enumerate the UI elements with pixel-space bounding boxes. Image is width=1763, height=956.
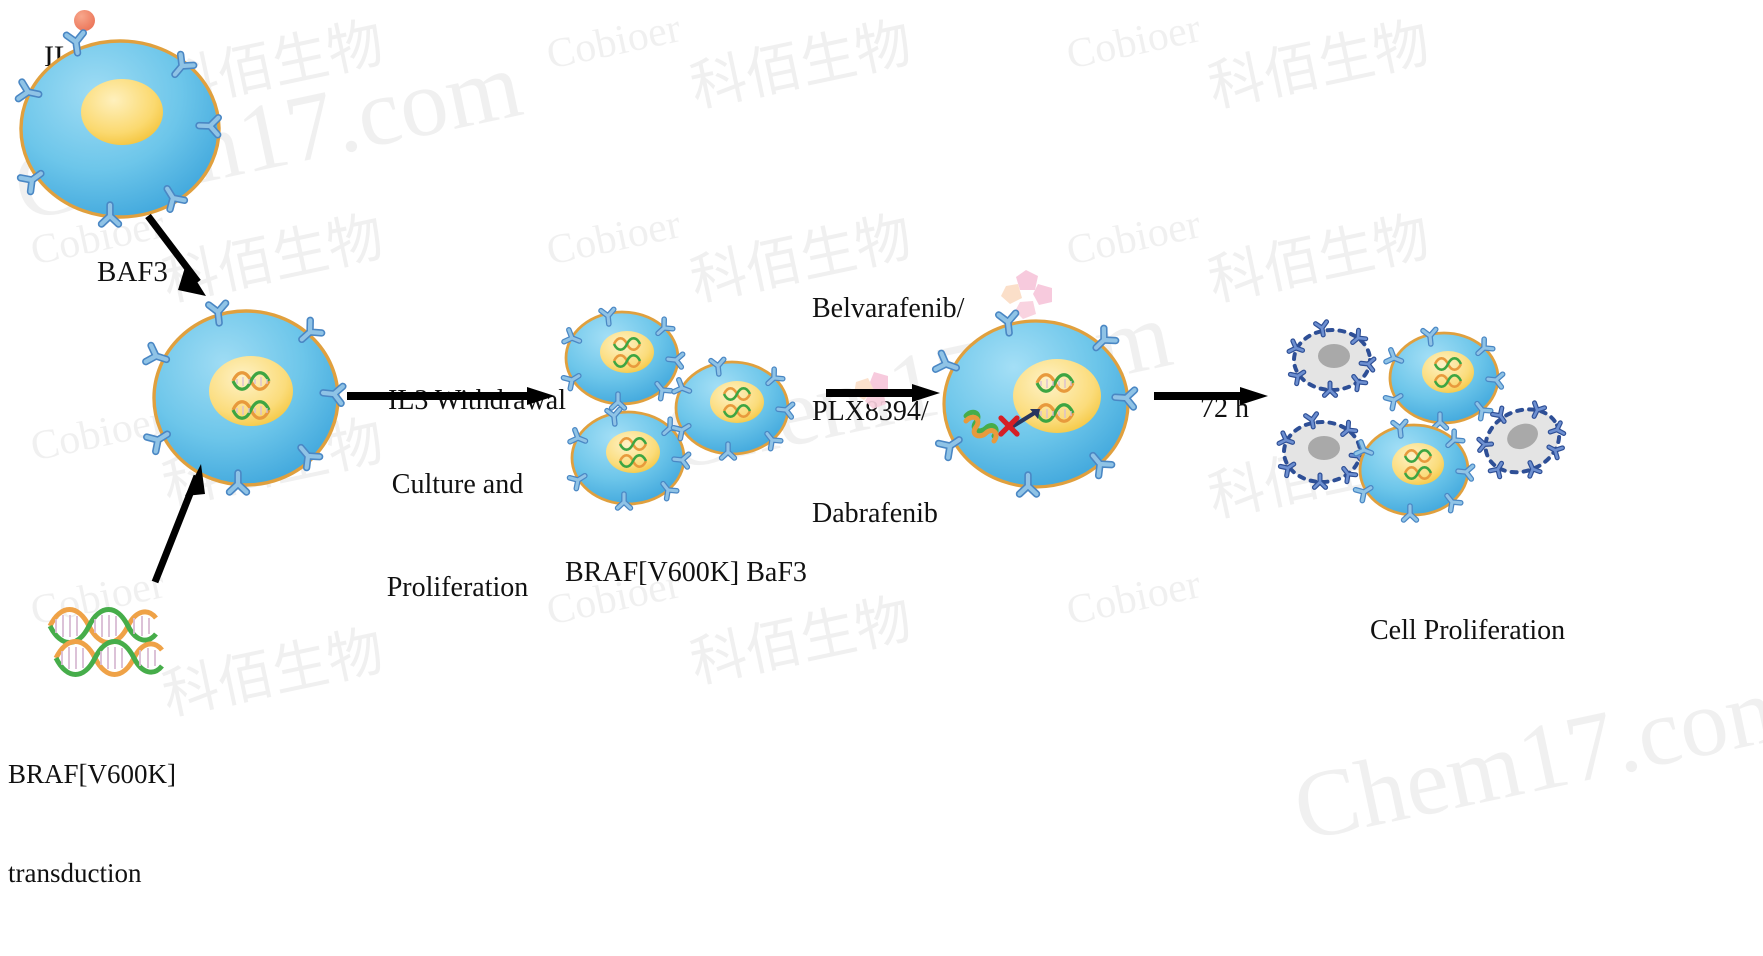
- watermark-11: 科佰生物: [1200, 0, 1436, 123]
- cluster-cell-1: [564, 309, 683, 408]
- watermark-1: Cobioer: [1062, 4, 1204, 79]
- label-cell-proliferation-text: Cell Proliferation: [1370, 615, 1565, 646]
- dead-cell-1: [1289, 322, 1374, 396]
- label-braf-baf3: BRAF[V600K] BaF3: [537, 522, 807, 624]
- watermark-4: Cobioer: [1062, 200, 1204, 275]
- live-cell-2: [1356, 421, 1473, 520]
- watermark-3: Cobioer: [542, 200, 684, 275]
- label-culture-line2: Proliferation: [370, 571, 545, 605]
- label-culture-line1: Culture and: [370, 468, 545, 502]
- dead-cell-2: [1279, 414, 1364, 488]
- label-transduction-line2: transduction: [8, 857, 176, 890]
- cluster-cell-2: [570, 409, 689, 508]
- watermark-10: 科佰生物: [682, 0, 918, 123]
- label-transduction-line1: BRAF[V600K]: [8, 758, 176, 791]
- dna-braf-v600k-construct: [50, 608, 175, 683]
- arrow-dna-to-braf: [145, 460, 235, 590]
- label-transduction: BRAF[V600K] transduction: [8, 692, 176, 956]
- watermark-18: 科佰生物: [154, 606, 390, 732]
- outcome-cell-cluster: [1276, 322, 1556, 522]
- watermark-7: Cobioer: [1062, 560, 1204, 635]
- label-braf-baf3-text: BRAF[V600K] BaF3: [565, 557, 807, 588]
- cell-baf3: [10, 26, 240, 231]
- arrow-baf3-to-braf: [140, 210, 230, 310]
- cluster-cell-3: [674, 359, 793, 458]
- label-72h: 72 h: [1172, 358, 1249, 460]
- watermark-14: 科佰生物: [1200, 192, 1436, 318]
- live-cell-1: [1386, 329, 1503, 428]
- label-cell-proliferation: Cell Proliferation: [1342, 580, 1565, 682]
- watermark-0: Cobioer: [542, 4, 684, 79]
- label-culture-proliferation: Culture and Proliferation: [370, 400, 545, 673]
- cell-cluster-braf-baf3: [552, 296, 802, 518]
- cell-drug-treated: [932, 306, 1142, 506]
- arrow-drug-treatment: [824, 382, 944, 404]
- arrow-72h: [1152, 385, 1272, 407]
- figure-canvas: CobioerCobioerCobioerCobioerCobioerCobio…: [0, 0, 1763, 848]
